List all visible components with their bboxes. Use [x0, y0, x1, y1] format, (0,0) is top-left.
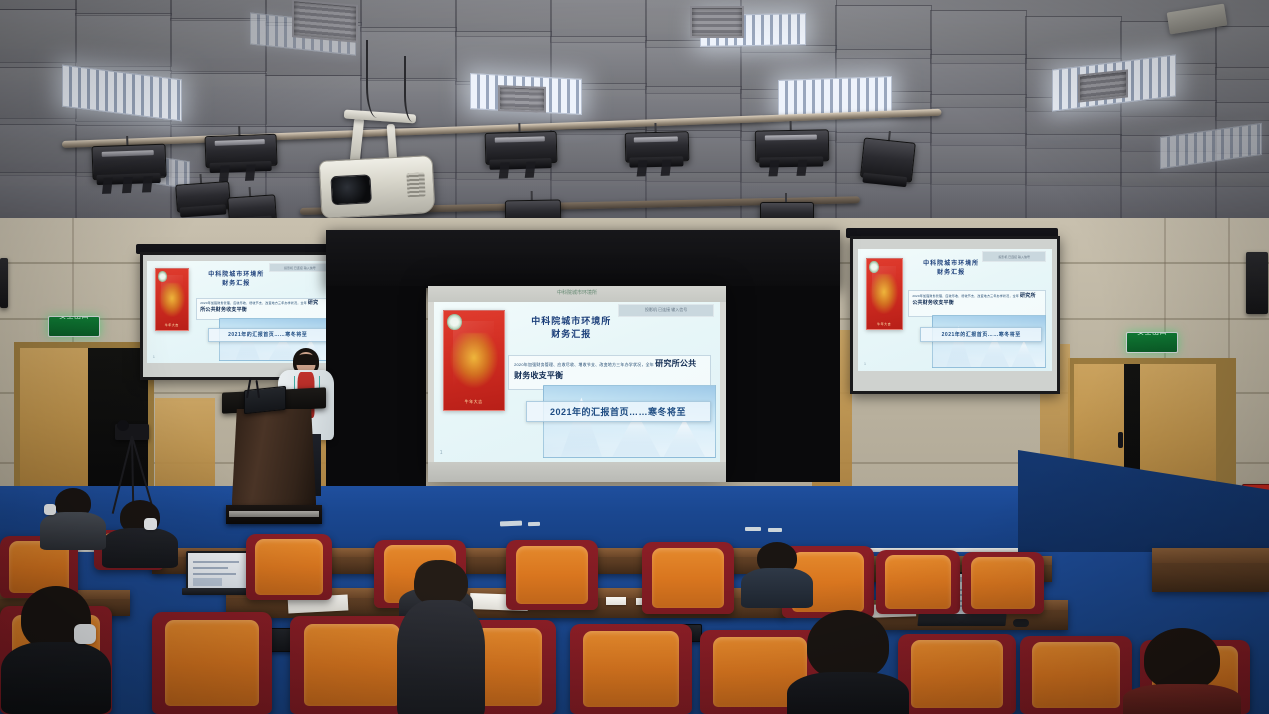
- stage-light: [860, 137, 914, 180]
- exit-sign-left-cn: 安全出口: [59, 316, 89, 320]
- ceiling-tile: [170, 73, 267, 125]
- attendee-laptop-2-keyboard[interactable]: [917, 614, 1006, 626]
- hvac-diffuser: [1078, 69, 1128, 102]
- slide-page-number: 1: [440, 450, 443, 456]
- proscenium-valance: [326, 230, 840, 288]
- proscenium-right: [722, 286, 840, 482]
- slide-banner: 2021年的汇报首页……寒冬将至: [208, 328, 328, 341]
- seat[interactable]: [506, 540, 598, 610]
- main-slide: 牛年大吉 中科院城市环境所 财务汇报 2020年加强财务管理、应收尽收、增收节支…: [434, 302, 720, 462]
- ceiling-tile: [75, 13, 172, 67]
- podium-front: [232, 409, 316, 505]
- seat[interactable]: [246, 534, 332, 600]
- exit-sign-right-cn: 安全出口: [1137, 332, 1167, 336]
- projector-osd: 投影机 已连接 输入信号: [618, 304, 714, 317]
- main-projection-screen: 中科院城市环境所 牛年大吉 中科院城市环境所 财务汇报 2020年加强财务管理、…: [428, 286, 726, 482]
- poster-caption: 牛年大吉: [158, 323, 185, 327]
- door-left-panel[interactable]: [20, 348, 88, 506]
- auditorium-scene: 安全出口 EXIT 安全出口 EXIT 牛年大吉 中科院城市环境所 财务汇报: [0, 0, 1269, 714]
- slide-poster: 牛年大吉: [866, 258, 903, 331]
- floor-cable-tape: [528, 522, 540, 526]
- stage-light: [485, 131, 556, 163]
- slide-title: 中科院城市环境所 财务汇报: [910, 260, 991, 277]
- stage-light: [91, 144, 164, 178]
- projector-cable: [366, 40, 394, 118]
- door-handle-icon[interactable]: [1118, 432, 1123, 448]
- projector-osd: 投影机 已连接 输入信号: [269, 263, 332, 272]
- slide-page-number: 1: [864, 361, 866, 366]
- camera-lens-icon: [117, 420, 129, 431]
- podium-base-trim: [229, 511, 319, 518]
- slide-banner: 2021年的汇报首页……寒冬将至: [920, 327, 1042, 342]
- ceiling-tile: [0, 9, 77, 63]
- poster-caption: 牛年大吉: [870, 322, 899, 326]
- attendee: [38, 488, 108, 548]
- slide-body-text: 2020年加强财务管理、应收尽收、增收节支、改变地方三年办学状况，全年 研究所公…: [200, 300, 322, 315]
- screen-bottom-bar: [428, 462, 726, 482]
- screen-top-bar: 中科院城市环境所: [428, 286, 726, 302]
- floor-cable-tape: [500, 521, 522, 527]
- exit-sign-right: 安全出口 EXIT: [1126, 332, 1178, 353]
- attendee-foreground: [0, 586, 112, 714]
- wall-speaker: [1246, 252, 1268, 314]
- slide-title: 中科院城市环境所 财务汇报: [514, 315, 628, 341]
- ceiling-tile: [0, 124, 77, 176]
- screen-top-label: 中科院城市环境所: [557, 289, 597, 296]
- side-screen-right: 牛年大吉 中科院城市环境所 财务汇报 2020年加强财务管理、应收尽收、增收节支…: [850, 236, 1060, 394]
- poster-caption: 牛年大吉: [448, 399, 498, 405]
- side-slide-right: 牛年大吉 中科院城市环境所 财务汇报 2020年加强财务管理、应收尽收、增收节支…: [858, 249, 1052, 371]
- attendee-foreground: [786, 610, 910, 714]
- tripod-camera-rig[interactable]: [106, 424, 158, 512]
- seat[interactable]: [898, 634, 1016, 714]
- presenter-fringe: [295, 354, 317, 365]
- slide-poster: 牛年大吉: [155, 268, 189, 331]
- attendee: [100, 500, 180, 564]
- ceiling-tile: [265, 75, 362, 127]
- exit-sign-left-en: EXIT: [59, 336, 89, 337]
- computer-mouse[interactable]: [1013, 619, 1029, 627]
- stage-light: [175, 181, 229, 211]
- attendee-laptop-1-base[interactable]: [182, 588, 254, 595]
- floor-cable-tape: [768, 528, 782, 532]
- seat[interactable]: [1020, 636, 1132, 714]
- slide-title: 中科院城市环境所 财务汇报: [196, 271, 276, 288]
- projector-cable: [404, 56, 426, 122]
- paper-document: [606, 597, 626, 605]
- exit-sign-left: 安全出口 EXIT: [48, 316, 100, 337]
- stage-light: [625, 131, 688, 161]
- seat[interactable]: [876, 550, 960, 614]
- desk-side-right: [1152, 548, 1269, 592]
- stage-light: [755, 129, 828, 160]
- attendee: [740, 542, 814, 602]
- slide-page-number: 1: [153, 354, 155, 359]
- slide-poster: 牛年大吉: [443, 310, 505, 411]
- seat[interactable]: [962, 552, 1044, 614]
- slide-banner: 2021年的汇报首页……寒冬将至: [526, 401, 711, 422]
- floor-cable-tape: [745, 527, 761, 531]
- slide-body-text: 2020年加强财务管理、应收尽收、增收节支、改变地方三年办学状况，全年 研究所公…: [514, 358, 703, 382]
- ceiling-projector: [319, 155, 434, 217]
- proscenium-left: [326, 286, 426, 486]
- seat[interactable]: [642, 542, 734, 614]
- projector-osd: 投影机 已连接 输入信号: [982, 251, 1046, 262]
- seat[interactable]: [152, 612, 272, 714]
- seat[interactable]: [570, 624, 692, 714]
- exit-sign-right-en: EXIT: [1137, 352, 1167, 353]
- podium-laptop[interactable]: [244, 386, 286, 414]
- slide-body-text: 2020年加强财务管理、应收尽收、增收节支、改变地方三年办学状况，全年 研究所公…: [912, 293, 1040, 308]
- stage-light: [204, 134, 275, 166]
- attendee-laptop-1[interactable]: [186, 551, 252, 589]
- attendee-foreground: [1122, 628, 1242, 714]
- wall-speaker: [0, 258, 8, 308]
- hvac-diffuser: [292, 0, 358, 43]
- hvac-diffuser: [498, 85, 546, 113]
- hvac-diffuser: [690, 6, 744, 38]
- attendee-foreground: [396, 560, 486, 714]
- ceiling-light-panel: [778, 76, 892, 116]
